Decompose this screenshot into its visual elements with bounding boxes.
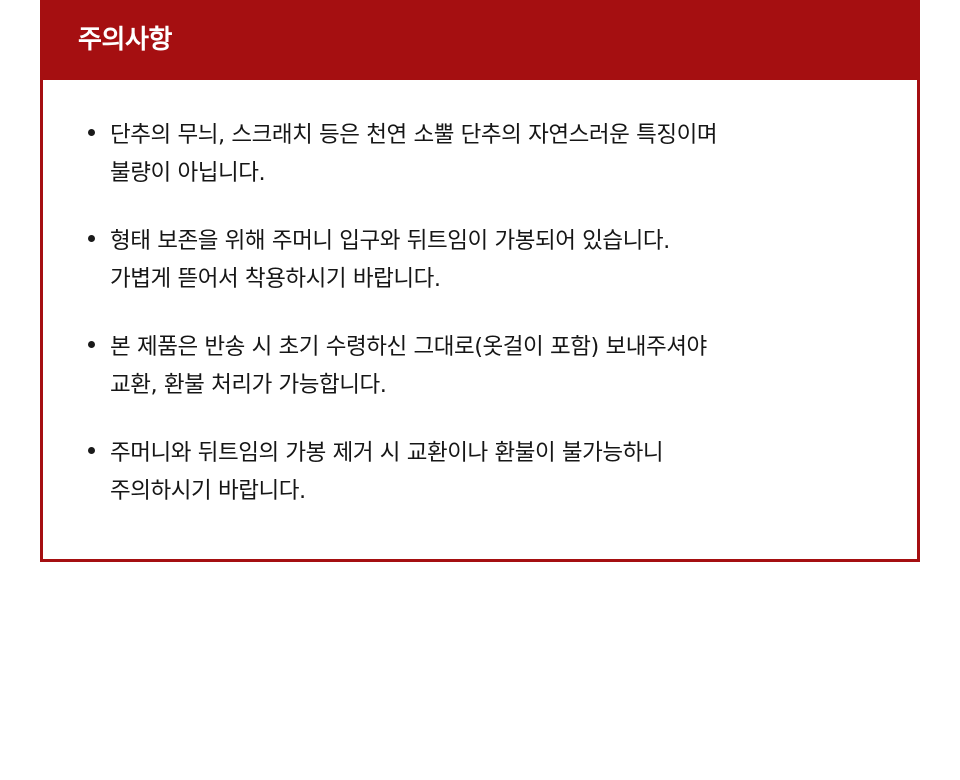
list-item: 단추의 무늬, 스크래치 등은 천연 소뿔 단추의 자연스러운 특징이며 불량이…	[85, 116, 887, 192]
notice-text-line: 주머니와 뒤트임의 가봉 제거 시 교환이나 환불이 불가능하니	[110, 434, 887, 472]
bullet-dot-icon	[88, 235, 95, 242]
notice-text-line: 불량이 아닙니다.	[110, 154, 887, 192]
notice-text-line: 가볍게 뜯어서 착용하시기 바랍니다.	[110, 260, 887, 298]
bullet-dot-icon	[88, 341, 95, 348]
bullet-dot-icon	[88, 447, 95, 454]
notice-text-line: 주의하시기 바랍니다.	[110, 472, 887, 510]
notice-card: 주의사항 단추의 무늬, 스크래치 등은 천연 소뿔 단추의 자연스러운 특징이…	[40, 0, 920, 562]
notice-text-line: 본 제품은 반송 시 초기 수령하신 그대로(옷걸이 포함) 보내주셔야	[110, 328, 887, 366]
notice-list: 단추의 무늬, 스크래치 등은 천연 소뿔 단추의 자연스러운 특징이며 불량이…	[85, 116, 887, 510]
page-title: 주의사항	[78, 27, 172, 53]
page-root: 주의사항 단추의 무늬, 스크래치 등은 천연 소뿔 단추의 자연스러운 특징이…	[0, 0, 960, 780]
notice-header: 주의사항	[40, 0, 920, 80]
notice-text-line: 교환, 환불 처리가 가능합니다.	[110, 366, 887, 404]
bullet-dot-icon	[88, 129, 95, 136]
notice-text-line: 단추의 무늬, 스크래치 등은 천연 소뿔 단추의 자연스러운 특징이며	[110, 116, 887, 154]
list-item: 주머니와 뒤트임의 가봉 제거 시 교환이나 환불이 불가능하니 주의하시기 바…	[85, 434, 887, 510]
notice-body: 단추의 무늬, 스크래치 등은 천연 소뿔 단추의 자연스러운 특징이며 불량이…	[40, 80, 920, 562]
list-item: 형태 보존을 위해 주머니 입구와 뒤트임이 가봉되어 있습니다. 가볍게 뜯어…	[85, 222, 887, 298]
list-item: 본 제품은 반송 시 초기 수령하신 그대로(옷걸이 포함) 보내주셔야 교환,…	[85, 328, 887, 404]
notice-text-line: 형태 보존을 위해 주머니 입구와 뒤트임이 가봉되어 있습니다.	[110, 222, 887, 260]
